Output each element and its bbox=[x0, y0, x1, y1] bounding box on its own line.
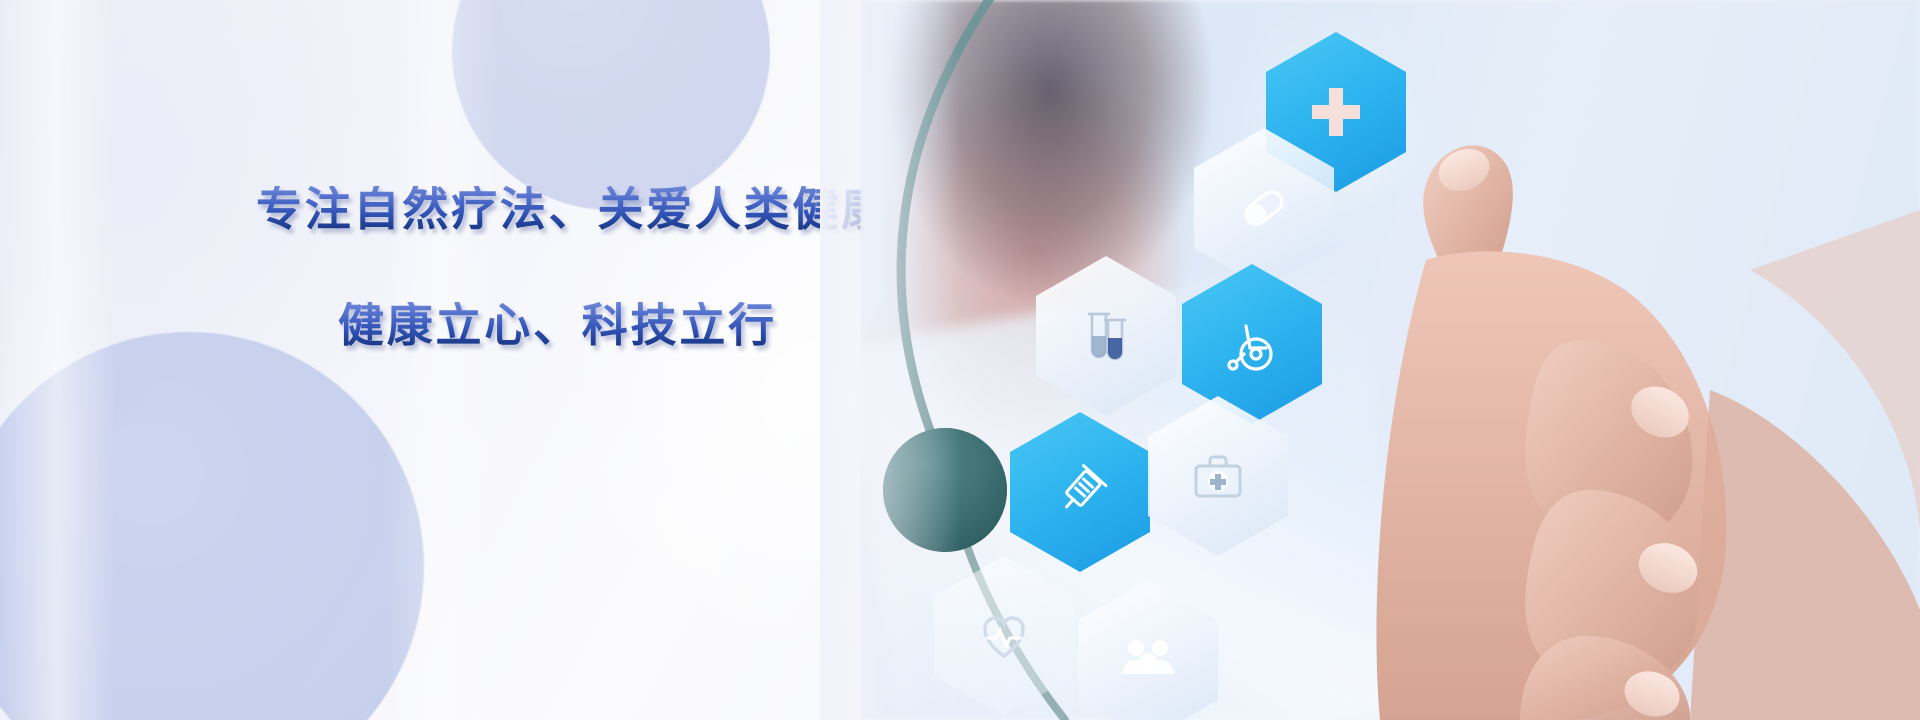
people-group-icon bbox=[1116, 628, 1180, 692]
decorative-circle-bottom bbox=[0, 332, 424, 720]
photo-panel bbox=[860, 0, 1920, 720]
hero-banner: 专注自然疗法、关爱人类健康 健康立心、科技立行 bbox=[0, 0, 1920, 720]
pointing-hand bbox=[1190, 90, 1920, 720]
test-tubes-icon bbox=[1074, 304, 1138, 368]
syringe-icon bbox=[1048, 460, 1112, 524]
heart-pulse-icon bbox=[972, 604, 1036, 668]
